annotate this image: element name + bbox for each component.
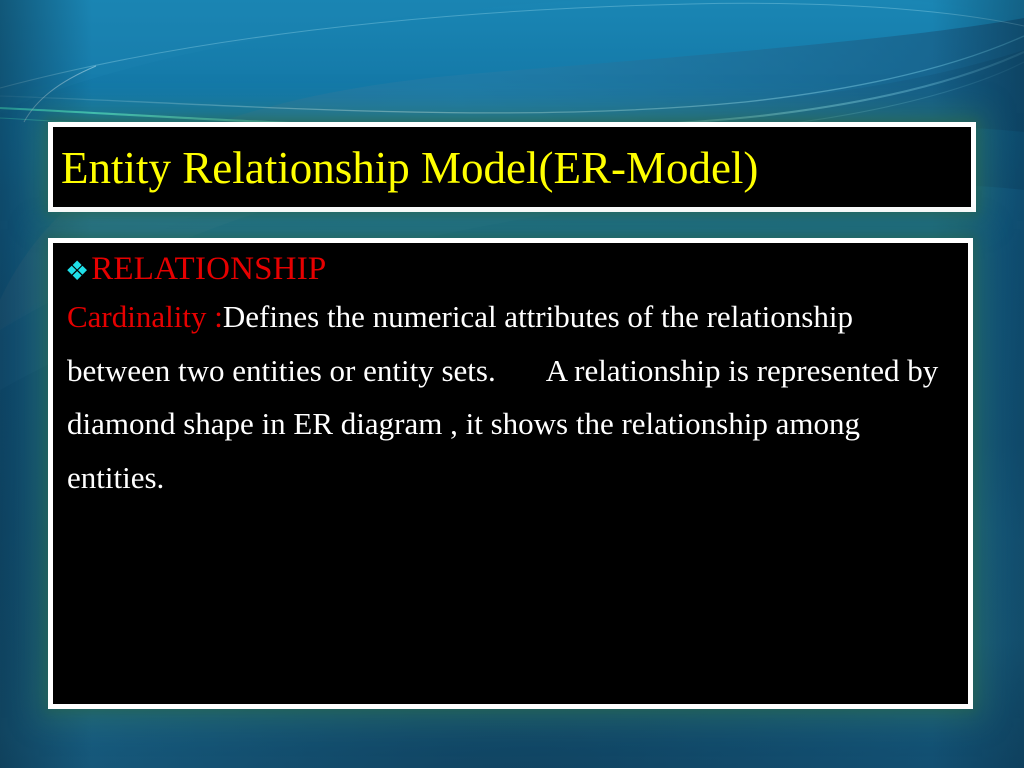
cardinality-paragraph: Cardinality :Defines the numerical attri… <box>65 290 954 505</box>
diamond-bullet-icon: ❖ <box>65 258 89 285</box>
content-body: ❖ RELATIONSHIP Cardinality :Defines the … <box>53 243 968 505</box>
slide-content-box: ❖ RELATIONSHIP Cardinality :Defines the … <box>48 238 973 709</box>
relationship-heading-row: ❖ RELATIONSHIP <box>65 253 954 286</box>
slide-title-box: Entity Relationship Model(ER-Model) <box>48 122 976 212</box>
presentation-slide: Entity Relationship Model(ER-Model) ❖ RE… <box>0 0 1024 768</box>
section-heading: RELATIONSHIP <box>91 253 326 286</box>
cardinality-term: Cardinality : <box>67 299 223 334</box>
page-title: Entity Relationship Model(ER-Model) <box>53 146 758 191</box>
